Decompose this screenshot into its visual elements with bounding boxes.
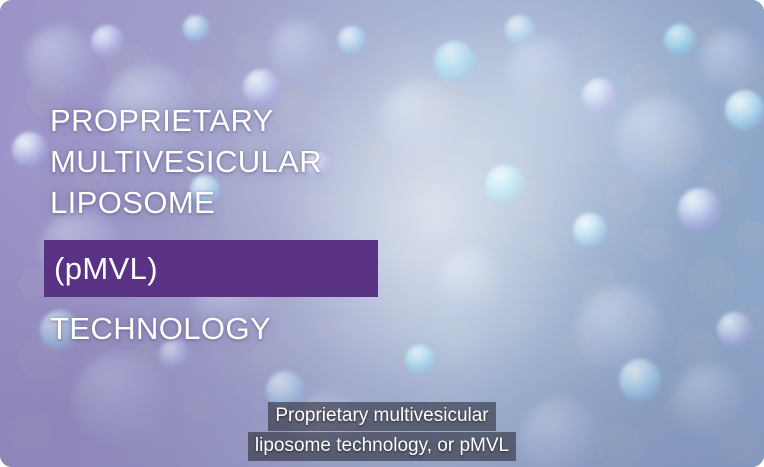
- pmvl-highlight-bar: (pMVL): [44, 240, 378, 297]
- vignette-overlay: [0, 0, 764, 467]
- subtitle-caption-block: Proprietary multivesicular liposome tech…: [0, 402, 764, 461]
- caption-line-1: Proprietary multivesicular: [268, 402, 495, 431]
- center-glow: [0, 0, 764, 467]
- background-gradient: [0, 0, 764, 467]
- headline-block: PROPRIETARY MULTIVESICULAR LIPOSOME: [50, 100, 470, 223]
- caption-line-2: liposome technology, or pMVL: [248, 432, 516, 461]
- headline-line-3: LIPOSOME: [50, 182, 470, 223]
- headline-technology-line: TECHNOLOGY: [50, 308, 271, 349]
- liposome-particle-field: [0, 0, 764, 467]
- video-frame[interactable]: PROPRIETARY MULTIVESICULAR LIPOSOME (pMV…: [0, 0, 764, 467]
- headline-line-1: PROPRIETARY: [50, 100, 470, 141]
- pmvl-abbreviation-text: (pMVL): [54, 246, 158, 291]
- headline-line-2: MULTIVESICULAR: [50, 141, 470, 182]
